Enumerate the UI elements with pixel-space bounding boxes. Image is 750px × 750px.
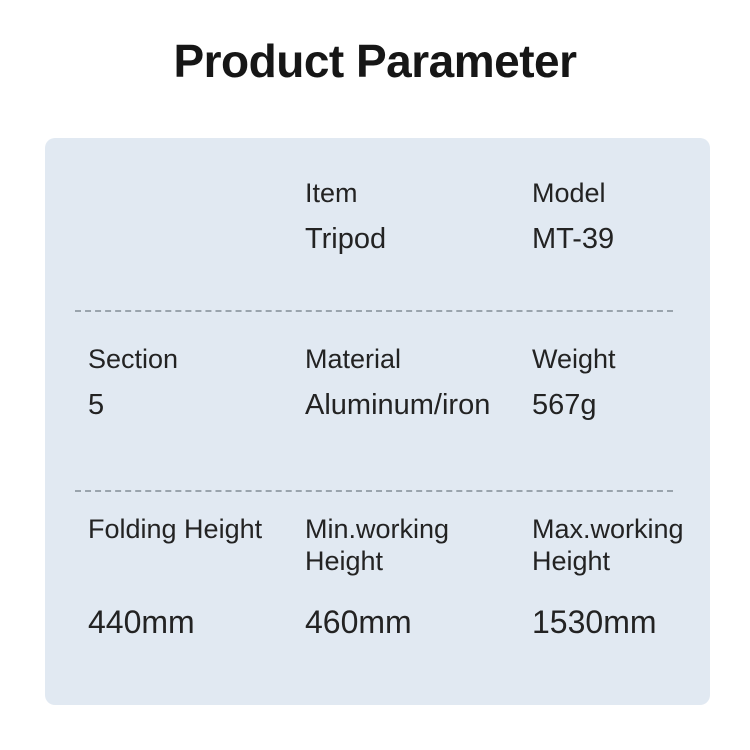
spec-header-cell: Material xyxy=(305,344,401,376)
spec-value-cell: 440mm xyxy=(88,604,195,642)
spec-header-cell: Min.working Height xyxy=(305,514,505,578)
spec-header-cell: Weight xyxy=(532,344,616,376)
spec-value-row: 5 Aluminum/iron 567g xyxy=(45,388,710,444)
spec-value-cell: Aluminum/iron xyxy=(305,388,490,422)
page-title: Product Parameter xyxy=(0,36,750,87)
spec-header-row: Item Model xyxy=(45,178,710,222)
product-parameter-page: Product Parameter Item Model Tripod MT-3… xyxy=(0,0,750,750)
spec-header-row: Folding Height Min.working Height Max.wo… xyxy=(45,514,710,590)
spec-header-cell: Model xyxy=(532,178,606,210)
spec-value-row: Tripod MT-39 xyxy=(45,222,710,278)
spec-group-3: Folding Height Min.working Height Max.wo… xyxy=(45,514,710,660)
spec-value-cell: 5 xyxy=(88,388,104,422)
spec-header-cell: Item xyxy=(305,178,358,210)
spec-header-cell: Max.working Height xyxy=(532,514,712,578)
spec-panel: Item Model Tripod MT-39 Section Material… xyxy=(45,138,710,705)
spec-value-cell: 1530mm xyxy=(532,604,657,642)
spec-header-row: Section Material Weight xyxy=(45,344,710,388)
spec-value-cell: MT-39 xyxy=(532,222,614,256)
spec-group-2: Section Material Weight 5 Aluminum/iron … xyxy=(45,344,710,444)
spec-header-cell: Section xyxy=(88,344,178,376)
spec-group-1: Item Model Tripod MT-39 xyxy=(45,178,710,278)
spec-header-cell: Folding Height xyxy=(88,514,262,546)
row-divider xyxy=(75,490,673,492)
spec-value-cell: Tripod xyxy=(305,222,386,256)
row-divider xyxy=(75,310,673,312)
spec-value-cell: 460mm xyxy=(305,604,412,642)
spec-value-row: 440mm 460mm 1530mm xyxy=(45,604,710,660)
spec-value-cell: 567g xyxy=(532,388,597,422)
